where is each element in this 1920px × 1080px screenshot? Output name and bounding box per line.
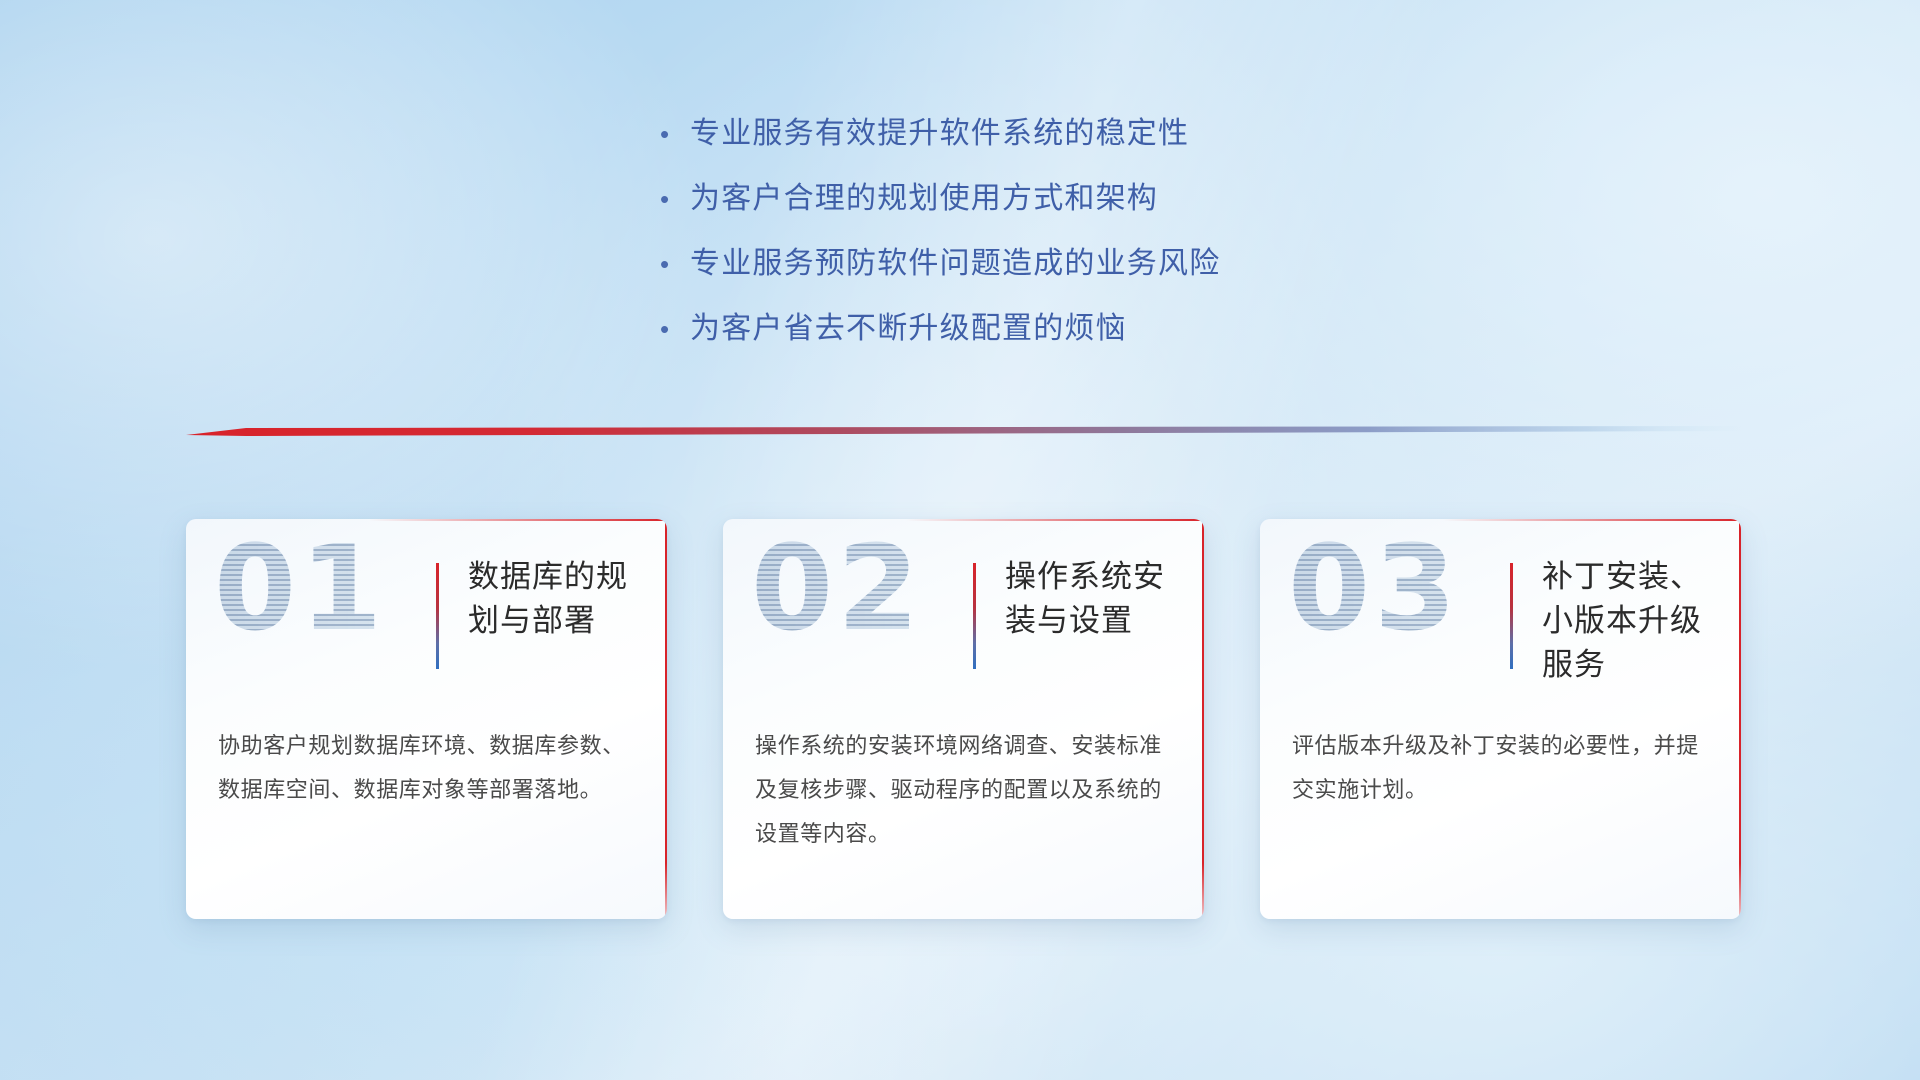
bullet-text: 为客户合理的规划使用方式和架构	[690, 173, 1158, 217]
section-divider	[186, 424, 1742, 440]
list-item: • 专业服务预防软件问题造成的业务风险	[660, 238, 1480, 303]
card-header: 02 02 操作系统安装与设置	[723, 519, 1204, 715]
bullet-point-icon: •	[660, 186, 690, 212]
benefits-bullet-list: • 专业服务有效提升软件系统的稳定性 • 为客户合理的规划使用方式和架构 • 专…	[660, 108, 1480, 368]
card-accent-rule	[973, 563, 976, 669]
card-description: 评估版本升级及补丁安装的必要性，并提交实施计划。	[1292, 725, 1715, 813]
card-accent-rule	[1510, 563, 1513, 669]
card-number: 01	[214, 529, 386, 647]
divider-taper-shape	[186, 424, 1742, 440]
card-description: 协助客户规划数据库环境、数据库参数、数据库空间、数据库对象等部署落地。	[218, 725, 641, 813]
card-accent-rule	[436, 563, 439, 669]
service-card-02[interactable]: 02 02 操作系统安装与设置 操作系统的安装环境网络调查、安装标准及复核步骤、…	[723, 519, 1204, 919]
bullet-point-icon: •	[660, 121, 690, 147]
bullet-point-icon: •	[660, 251, 690, 277]
card-header: 03 03 补丁安装、小版本升级服务	[1260, 519, 1741, 715]
service-cards-row: 01 01 数据库的规划与部署 协助客户规划数据库环境、数据库参数、数据库空间、…	[186, 519, 1742, 919]
list-item: • 为客户省去不断升级配置的烦恼	[660, 303, 1480, 368]
bullet-point-icon: •	[660, 316, 690, 342]
card-number: 03	[1288, 529, 1460, 647]
bullet-text: 专业服务有效提升软件系统的稳定性	[690, 108, 1189, 152]
service-card-03[interactable]: 03 03 补丁安装、小版本升级服务 评估版本升级及补丁安装的必要性，并提交实施…	[1260, 519, 1741, 919]
card-number: 02	[751, 529, 923, 647]
bullet-text: 为客户省去不断升级配置的烦恼	[690, 303, 1127, 347]
card-title: 补丁安装、小版本升级服务	[1542, 555, 1728, 687]
card-title: 操作系统安装与设置	[1005, 555, 1191, 643]
card-description: 操作系统的安装环境网络调查、安装标准及复核步骤、驱动程序的配置以及系统的设置等内…	[755, 725, 1178, 857]
list-item: • 为客户合理的规划使用方式和架构	[660, 173, 1480, 238]
service-card-01[interactable]: 01 01 数据库的规划与部署 协助客户规划数据库环境、数据库参数、数据库空间、…	[186, 519, 667, 919]
card-header: 01 01 数据库的规划与部署	[186, 519, 667, 715]
bullet-text: 专业服务预防软件问题造成的业务风险	[690, 238, 1220, 282]
card-title: 数据库的规划与部署	[468, 555, 654, 643]
list-item: • 专业服务有效提升软件系统的稳定性	[660, 108, 1480, 173]
